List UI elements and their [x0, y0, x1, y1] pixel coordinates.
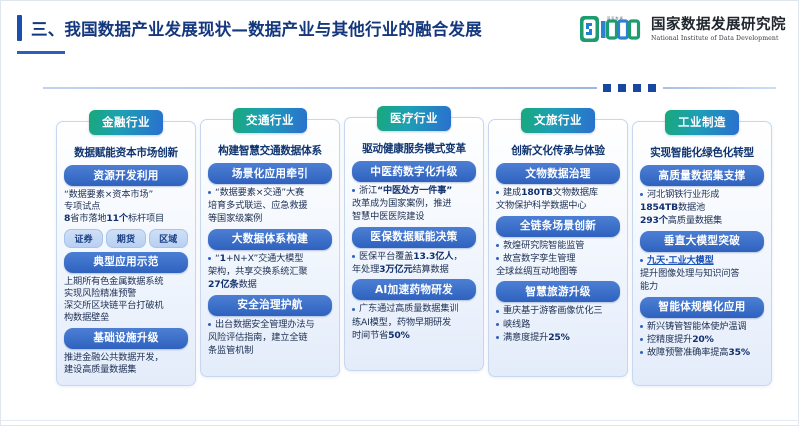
text-line: 8省市落地11个标杆项目: [62, 213, 190, 225]
text-line: “数据要素×资本市场”: [62, 189, 190, 201]
bullet-item: 九天·工业大模型: [638, 255, 766, 267]
section-pill[interactable]: 典型应用示范: [64, 252, 188, 273]
section-pill[interactable]: 基础设施升级: [64, 328, 188, 349]
text-line: 推进金融公共数据开发，: [62, 352, 190, 364]
section-pill[interactable]: 全链条场景创新: [496, 216, 620, 237]
section-pill[interactable]: 文物数据治理: [496, 163, 620, 184]
slide-header: 三、我国数据产业发展现状—数据产业与其他行业的融合发展 国 家 数 据 国家数据…: [1, 1, 799, 63]
slide-title-text: 三、我国数据产业发展现状—数据产业与其他行业的融合发展: [31, 16, 482, 40]
bullet-item: 293个高质量数据集: [638, 215, 766, 227]
section-pill[interactable]: 智能体规模化应用: [640, 297, 764, 318]
bullet-item: 1854TB数据池: [638, 202, 766, 214]
industry-card-3[interactable]: 医疗行业驱动健康服务模式变革中医药数字化升级浙江“中医处方一件事”改革成为国家案…: [344, 117, 484, 371]
bullet-item: 条监管机制: [206, 345, 334, 357]
bullet-item: 新兴铸管智能体使炉温调: [638, 321, 766, 333]
text-line: 建设高质量数据集: [62, 364, 190, 376]
card-subtitle: 驱动健康服务模式变革: [351, 140, 476, 156]
footer-divider: [1, 420, 799, 421]
bullet-item: 全球丝绸互动地图等: [494, 266, 622, 278]
industry-card-1[interactable]: 金融行业数据赋能资本市场创新资源开发利用“数据要素×资本市场”专项试点8省市落地…: [56, 121, 196, 386]
card-tab-label[interactable]: 工业制造: [665, 110, 739, 135]
bullet-list: 新兴铸管智能体使炉温调控精度提升20%故障预警准确率提高35%: [638, 321, 766, 359]
accent-square-1: [603, 84, 611, 92]
bullet-item: 时间节省50%: [350, 330, 478, 342]
section-pill[interactable]: 大数据体系构建: [208, 229, 332, 250]
card-subtitle: 创新文化传承与体验: [495, 142, 620, 158]
institute-logo-icon: 国 家 数 据: [580, 15, 644, 45]
bullet-item: 建成180TB文物数据库: [494, 187, 622, 199]
logo-name-cn: 国家数据发展研究院: [651, 18, 786, 33]
bullet-item: 重庆基于游客画像优化三: [494, 305, 622, 317]
accent-square-3: [633, 84, 641, 92]
bullet-item: 浙江“中医处方一件事”: [350, 185, 478, 197]
title-underline: [17, 51, 65, 54]
text-line: 实现风险精准预警: [62, 288, 190, 300]
industry-card-2[interactable]: 交通行业构建智慧交通数据体系场景化应用牵引“数据要素×交通”大赛培育多式联运、应…: [200, 119, 340, 377]
bullet-item: 文物保护科学数据中心: [494, 200, 622, 212]
section-pill[interactable]: 中医药数字化升级: [352, 161, 476, 182]
bullet-item: 医保平台覆盖13.3亿人，: [350, 251, 478, 263]
logo-text: 国家数据发展研究院 National Institute of Data Dev…: [651, 18, 786, 42]
bullet-list: “数据要素×交通”大赛培育多式联运、应急救援等国家级案例: [206, 187, 334, 225]
organization-logo: 国 家 数 据 国家数据发展研究院 National Institute of …: [580, 15, 786, 45]
bullet-item: 能力: [638, 281, 766, 293]
bullet-item: 提升图像处理与知识问答: [638, 268, 766, 280]
section-pill[interactable]: 高质量数据集支撑: [640, 165, 764, 186]
section-pill[interactable]: 场景化应用牵引: [208, 163, 332, 184]
svg-text:国 家 数 据: 国 家 数 据: [607, 15, 624, 20]
text-line: 深交所区块链平台打破机: [62, 300, 190, 312]
bullet-item: 改革成为国家案例，推进: [350, 198, 478, 210]
bullet-list: 敦煌研究院智能监管故宫数字孪生管理全球丝绸互动地图等: [494, 240, 622, 278]
section-pill[interactable]: AI加速药物研发: [352, 279, 476, 300]
logo-name-en: National Institute of Data Development: [651, 36, 786, 42]
bullet-list: 广东通过高质量数据集训练AI模型，药物早期研发时间节省50%: [350, 303, 478, 341]
bullet-list: 建成180TB文物数据库文物保护科学数据中心: [494, 187, 622, 212]
bullet-list: 九天·工业大模型提升图像处理与知识问答能力: [638, 255, 766, 293]
bullet-item: 满意度提升25%: [494, 332, 622, 344]
bullet-item: 27亿条数据: [206, 279, 334, 291]
text-line: 上期所有色金属数据系统: [62, 276, 190, 288]
card-subtitle: 数据赋能资本市场创新: [63, 144, 188, 160]
industry-cards-container: 金融行业数据赋能资本市场创新资源开发利用“数据要素×资本市场”专项试点8省市落地…: [1, 97, 799, 407]
bullet-item: 广东通过高质量数据集训: [350, 303, 478, 315]
section-pill[interactable]: 垂直大模型突破: [640, 231, 764, 252]
bullet-item: 等国家级案例: [206, 213, 334, 225]
bullet-list: 河北钢铁行业形成1854TB数据池293个高质量数据集: [638, 189, 766, 227]
bullet-list: 重庆基于游客画像优化三峡线路满意度提升25%: [494, 305, 622, 343]
bullet-item: “1+N+X”交通大模型: [206, 253, 334, 265]
bullet-item: 架构，共享交换系统汇聚: [206, 266, 334, 278]
bullet-item: 故宫数字孪生管理: [494, 253, 622, 265]
bullet-item: 培育多式联运、应急救援: [206, 200, 334, 212]
text-line: 构数据壁垒: [62, 312, 190, 324]
rule-line-left: [43, 87, 597, 89]
section-pill[interactable]: 智慧旅游升级: [496, 281, 620, 302]
bullet-item: 峡线路: [494, 319, 622, 331]
bullet-list: 医保平台覆盖13.3亿人，年处理3万亿元结算数据: [350, 251, 478, 276]
bullet-item: 出台数据安全管理办法与: [206, 319, 334, 331]
industry-card-4[interactable]: 文旅行业创新文化传承与体验文物数据治理建成180TB文物数据库文物保护科学数据中…: [488, 119, 628, 377]
bullet-item: 控精度提升20%: [638, 334, 766, 346]
page-title: 三、我国数据产业发展现状—数据产业与其他行业的融合发展: [17, 15, 482, 41]
slide-root: 三、我国数据产业发展现状—数据产业与其他行业的融合发展 国 家 数 据 国家数据…: [0, 0, 799, 426]
industry-card-5[interactable]: 工业制造实现智能化绿色化转型高质量数据集支撑河北钢铁行业形成1854TB数据池2…: [632, 121, 772, 386]
card-tab-label[interactable]: 医疗行业: [377, 106, 451, 131]
bullet-item: “数据要素×交通”大赛: [206, 187, 334, 199]
bullet-item: 智慧中医医院建设: [350, 211, 478, 223]
bullet-item: 练AI模型，药物早期研发: [350, 317, 478, 329]
accent-square-4: [648, 84, 656, 92]
section-pill[interactable]: 资源开发利用: [64, 165, 188, 186]
card-tab-label[interactable]: 交通行业: [233, 108, 307, 133]
bullet-item: 河北钢铁行业形成: [638, 189, 766, 201]
bullet-list: 出台数据安全管理办法与风险评估指南，建立全链条监管机制: [206, 319, 334, 357]
card-subtitle: 构建智慧交通数据体系: [207, 142, 332, 158]
card-subtitle: 实现智能化绿色化转型: [639, 144, 764, 160]
decorative-rule-band: [1, 81, 799, 95]
bullet-item: 年处理3万亿元结算数据: [350, 264, 478, 276]
tag-chip[interactable]: 期货: [106, 229, 145, 248]
bullet-list: 浙江“中医处方一件事”改革成为国家案例，推进智慧中医医院建设: [350, 185, 478, 223]
accent-square-2: [618, 84, 626, 92]
bullet-item: 敦煌研究院智能监管: [494, 240, 622, 252]
bullet-item: 故障预警准确率提高35%: [638, 347, 766, 359]
bullet-item: 风险评估指南，建立全链: [206, 332, 334, 344]
text-line: 专项试点: [62, 201, 190, 213]
card-tab-label[interactable]: 文旅行业: [521, 108, 595, 133]
section-pill[interactable]: 医保数据赋能决策: [352, 227, 476, 248]
rule-line-right: [663, 87, 776, 89]
card-tab-label[interactable]: 金融行业: [89, 110, 163, 135]
title-accent-bar: [17, 15, 22, 41]
tag-chip[interactable]: 区域: [149, 229, 188, 248]
bullet-list: “1+N+X”交通大模型架构，共享交换系统汇聚27亿条数据: [206, 253, 334, 291]
tag-chip[interactable]: 证券: [64, 229, 103, 248]
section-pill[interactable]: 安全治理护航: [208, 295, 332, 316]
tag-row: 证券期货区域: [64, 229, 188, 248]
